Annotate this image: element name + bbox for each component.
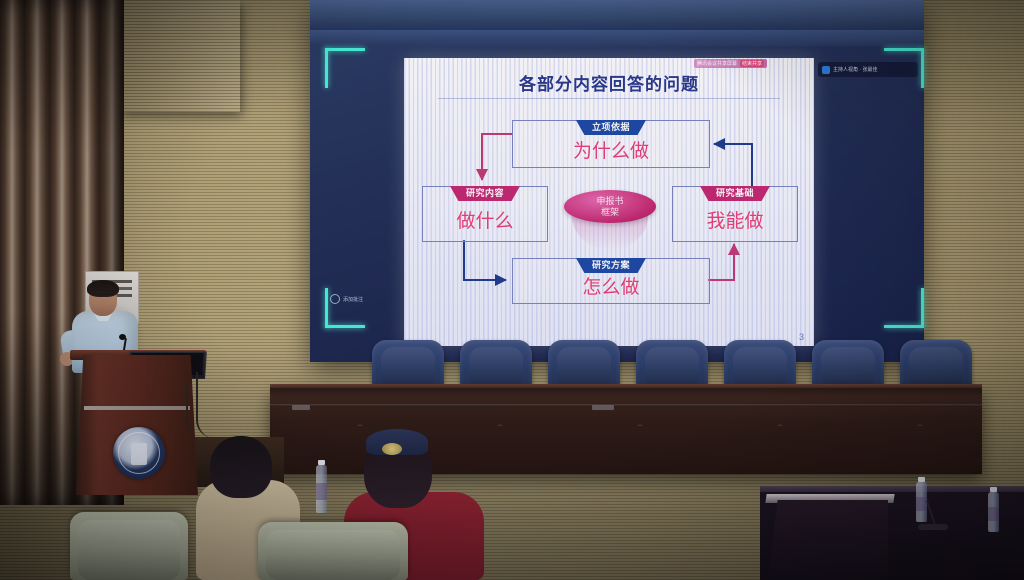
water-bottle[interactable] [316,465,327,513]
front-lectern [768,500,888,580]
flow-box-left[interactable]: 研究内容 做什么 [422,186,548,242]
flow-box-top[interactable]: 立项依据 为什么做 [512,120,710,168]
foreground-chair [70,512,188,580]
screen-share-badge[interactable]: 腾讯会议共享屏幕 结束共享 [694,59,767,68]
flow-box-bottom[interactable]: 研究方案 怎么做 [512,258,710,304]
flow-box-right-ribbon: 研究基础 [700,186,770,201]
flow-box-right-body: 我能做 [673,206,797,233]
flow-box-bottom-body: 怎么做 [513,272,709,299]
screen-corner-bracket-top-right [884,48,924,88]
flow-box-right[interactable]: 研究基础 我能做 [672,186,798,242]
flow-box-top-body: 为什么做 [513,136,709,163]
stop-share-button[interactable]: 结束共享 [740,60,764,67]
head-table-rail [270,404,982,407]
podium-microphone-head [119,334,126,340]
attendee-2-hair-clip [382,443,402,455]
screen-corner-bracket-bottom-right [884,288,924,328]
flow-box-bottom-ribbon: 研究方案 [576,258,646,273]
table-nameplate [592,405,614,410]
flow-box-left-ribbon: 研究内容 [450,186,520,201]
water-bottle[interactable] [916,482,927,522]
screen-share-label: 腾讯会议共享屏幕 [697,60,737,67]
center-ellipse-line2: 框架 [564,207,656,218]
flow-box-top-ribbon: 立项依据 [576,120,646,135]
foreground-chair [258,522,408,580]
flow-box-left-body: 做什么 [423,206,547,233]
cable [186,384,200,436]
water-bottle[interactable] [988,492,999,532]
presenter-glasses [92,294,114,301]
attendee-1-head [210,436,272,498]
screen-top-band-secondary [310,30,924,46]
screen-top-band [310,0,924,30]
presentation-slide[interactable]: 各部分内容回答的问题 立项依据 为什么做 研究内容 做什么 [404,58,814,346]
table-nameplate [292,405,310,410]
center-ellipse-line1: 申报书 [564,196,656,207]
podium-trim-band [84,406,190,410]
center-ellipse[interactable]: 申报书 框架 [564,190,656,223]
meeting-host-label: 主持人视角 · 张最佳 [833,66,877,73]
university-emblem [113,427,165,479]
screen-corner-bracket-top-left [325,48,365,88]
table-microphone-base [918,524,948,530]
screen-corner-bracket-bottom-left [325,288,365,328]
conference-room-scene: 各部分内容回答的问题 立项依据 为什么做 研究内容 做什么 [0,0,1024,580]
microphone-icon [822,66,830,74]
